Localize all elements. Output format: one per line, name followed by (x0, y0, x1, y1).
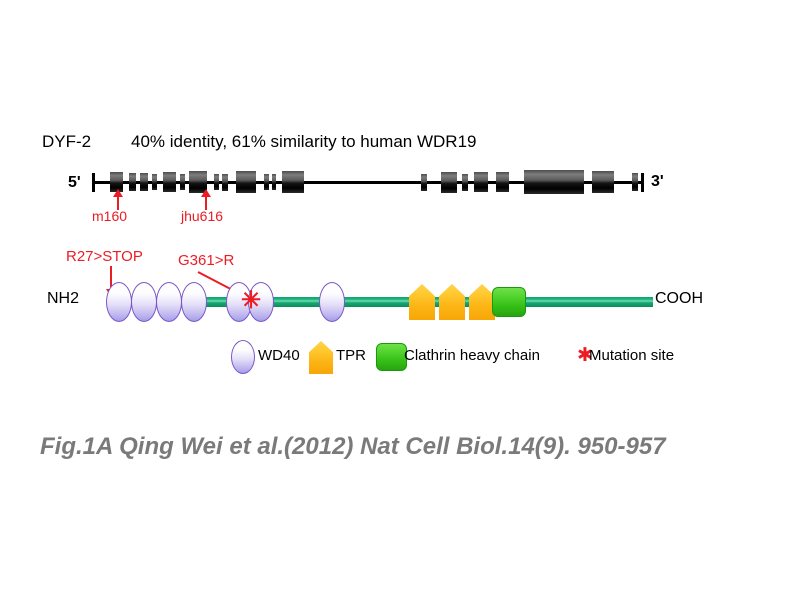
legend-label-clathrin: Clathrin heavy chain (404, 347, 540, 364)
exon-block (282, 171, 304, 193)
exon-block (140, 173, 148, 191)
exon-block (152, 174, 157, 190)
wd40-domain (156, 282, 182, 322)
tpr-domain (409, 284, 435, 320)
mutation-label-g361r: G361>R (178, 252, 234, 269)
exon-block (163, 172, 176, 192)
exon-block (474, 172, 488, 192)
wd40-domain (181, 282, 207, 322)
exon-block (524, 170, 584, 194)
c-terminus-label: COOH (655, 290, 703, 308)
exon-block (264, 174, 269, 190)
exon-block (496, 172, 509, 192)
exon-block (214, 174, 219, 190)
allele-label-m160: m160 (92, 208, 127, 224)
tpr-domain (439, 284, 465, 320)
mutation-label-r27-stop: R27>STOP (66, 248, 143, 265)
exon-block (421, 174, 427, 191)
exon-block (129, 173, 136, 191)
gene-start-tick (92, 173, 95, 192)
legend-label-mutation: Mutation site (589, 347, 674, 364)
legend-label-tpr: TPR (336, 347, 366, 364)
n-terminus-label: NH2 (47, 290, 79, 308)
exon-block (462, 174, 468, 191)
exon-block (272, 174, 276, 190)
clathrin-heavy-chain-domain (492, 287, 526, 317)
legend-swatch-tpr (309, 341, 333, 374)
five-prime-label: 5' (68, 174, 81, 192)
legend-label-wd40: WD40 (258, 347, 300, 364)
gene-end-tick (641, 173, 644, 192)
exon-block (180, 174, 185, 190)
exon-block (236, 171, 256, 193)
exon-block (632, 173, 638, 191)
mutation-site-asterisk: ✳ (241, 289, 261, 313)
legend-swatch-clathrin (376, 343, 407, 371)
legend-swatch-wd40 (231, 340, 255, 374)
allele-label-jhu616: jhu616 (181, 208, 223, 224)
exon-block (441, 172, 457, 193)
exon-block (592, 171, 614, 193)
homology-note: 40% identity, 61% similarity to human WD… (131, 132, 477, 152)
three-prime-label: 3' (651, 173, 664, 191)
exon-block (222, 174, 228, 191)
gene-name-label: DYF-2 (42, 132, 91, 152)
wd40-domain (106, 282, 132, 322)
wd40-domain (131, 282, 157, 322)
figure-caption: Fig.1A Qing Wei et al.(2012) Nat Cell Bi… (40, 433, 666, 461)
wd40-domain (319, 282, 345, 322)
figure-canvas: DYF-2 40% identity, 61% similarity to hu… (0, 0, 800, 600)
